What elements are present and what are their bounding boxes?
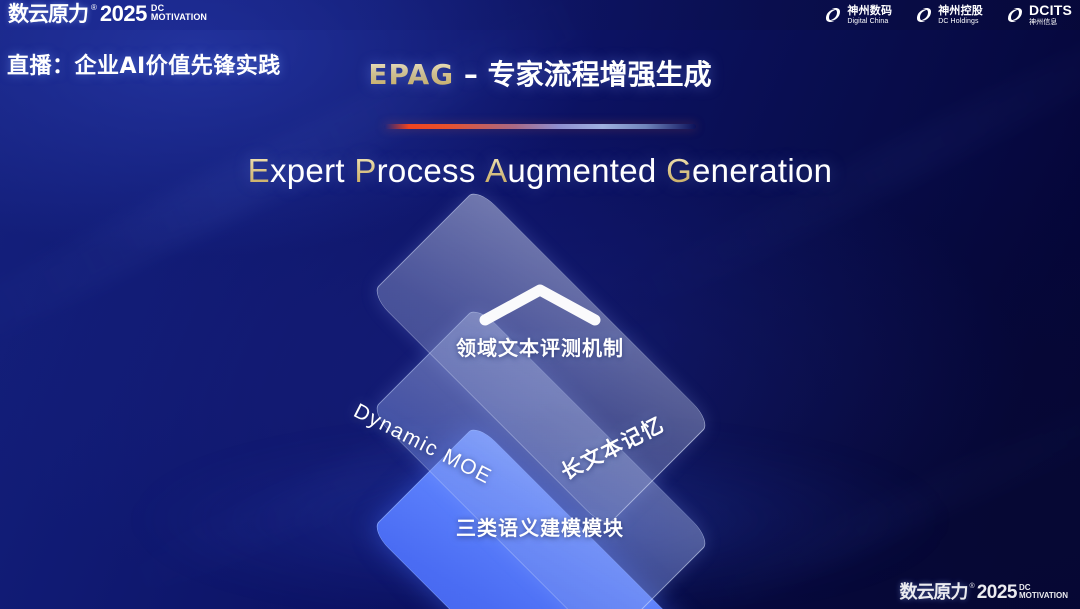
partner-logo-dc-holdings: 神州控股 DC Holdings — [914, 5, 983, 26]
title-acronym: EPAG — [368, 58, 454, 91]
brand-dc-motivation: DC MOTIVATION — [151, 4, 207, 22]
partner-name-cn: 神州数码 — [847, 5, 892, 17]
watermark-name-cn: 数云原力 — [900, 582, 968, 603]
title-dash: – — [454, 58, 488, 91]
watermark-registered-mark: ® — [970, 582, 975, 591]
partner-label: DCITS 神州信息 — [1029, 3, 1072, 27]
swirl-logo-icon — [1005, 5, 1025, 25]
subtitle-cap-a: A — [485, 152, 507, 189]
chevron-up-icon — [475, 280, 605, 326]
watermark-year: 2025 — [977, 582, 1017, 603]
partner-name-en: DC Holdings — [938, 17, 983, 26]
swirl-logo-icon — [823, 5, 843, 25]
subtitle-rest-expert: xpert — [270, 152, 345, 189]
subtitle-cap-p: P — [354, 152, 376, 189]
partner-logo-group: 神州数码 Digital China 神州控股 DC Holdings — [823, 3, 1072, 27]
title-chinese: 专家流程增强生成 — [488, 58, 712, 91]
page-subtitle: Expert Process Augmented Generation — [0, 150, 1080, 192]
subtitle-rest-process: rocess — [377, 152, 476, 189]
brand-logo: 数云原力 ® 2025 DC MOTIVATION — [8, 2, 207, 26]
title-divider — [384, 124, 696, 129]
swirl-logo-icon — [914, 5, 934, 25]
footer-watermark: 数云原力 ® 2025 DC MOTIVATION — [900, 582, 1068, 603]
partner-name-cn: 神州控股 — [938, 5, 983, 17]
subtitle-rest-generation: eneration — [692, 152, 832, 189]
partner-label: 神州数码 Digital China — [847, 5, 892, 26]
brand-dc-line2: MOTIVATION — [151, 13, 207, 22]
page-title: EPAG – 专家流程增强生成 — [0, 58, 1080, 92]
subtitle-cap-g: G — [666, 152, 692, 189]
watermark-dc-motivation: DC MOTIVATION — [1019, 584, 1068, 600]
diagram-layer-bottom-label: 三类语义建模模块 — [300, 512, 780, 541]
subtitle-rest-augmented: ugmented — [507, 152, 656, 189]
presentation-slide: 数云原力 ® 2025 DC MOTIVATION 直播：企业AI价值先锋实践 … — [0, 0, 1080, 609]
brand-year: 2025 — [100, 2, 147, 26]
brand-registered-mark: ® — [91, 3, 97, 13]
partner-label: 神州控股 DC Holdings — [938, 5, 983, 26]
subtitle-cap-e: E — [248, 152, 270, 189]
partner-logo-digital-china: 神州数码 Digital China — [823, 5, 892, 26]
partner-logo-dcits: DCITS 神州信息 — [1005, 3, 1072, 27]
partner-name-en: DCITS — [1029, 3, 1072, 18]
partner-name-en: Digital China — [847, 17, 892, 26]
layer-stack-diagram: 领域文本评测机制 Dynamic MOE 长文本记忆 三类语义建模模块 — [300, 228, 780, 568]
watermark-dc-line2: MOTIVATION — [1019, 592, 1068, 600]
diagram-layer-top-label: 领域文本评测机制 — [300, 332, 780, 361]
partner-name-cn: 神州信息 — [1029, 18, 1072, 27]
brand-name-cn: 数云原力 — [8, 2, 88, 26]
